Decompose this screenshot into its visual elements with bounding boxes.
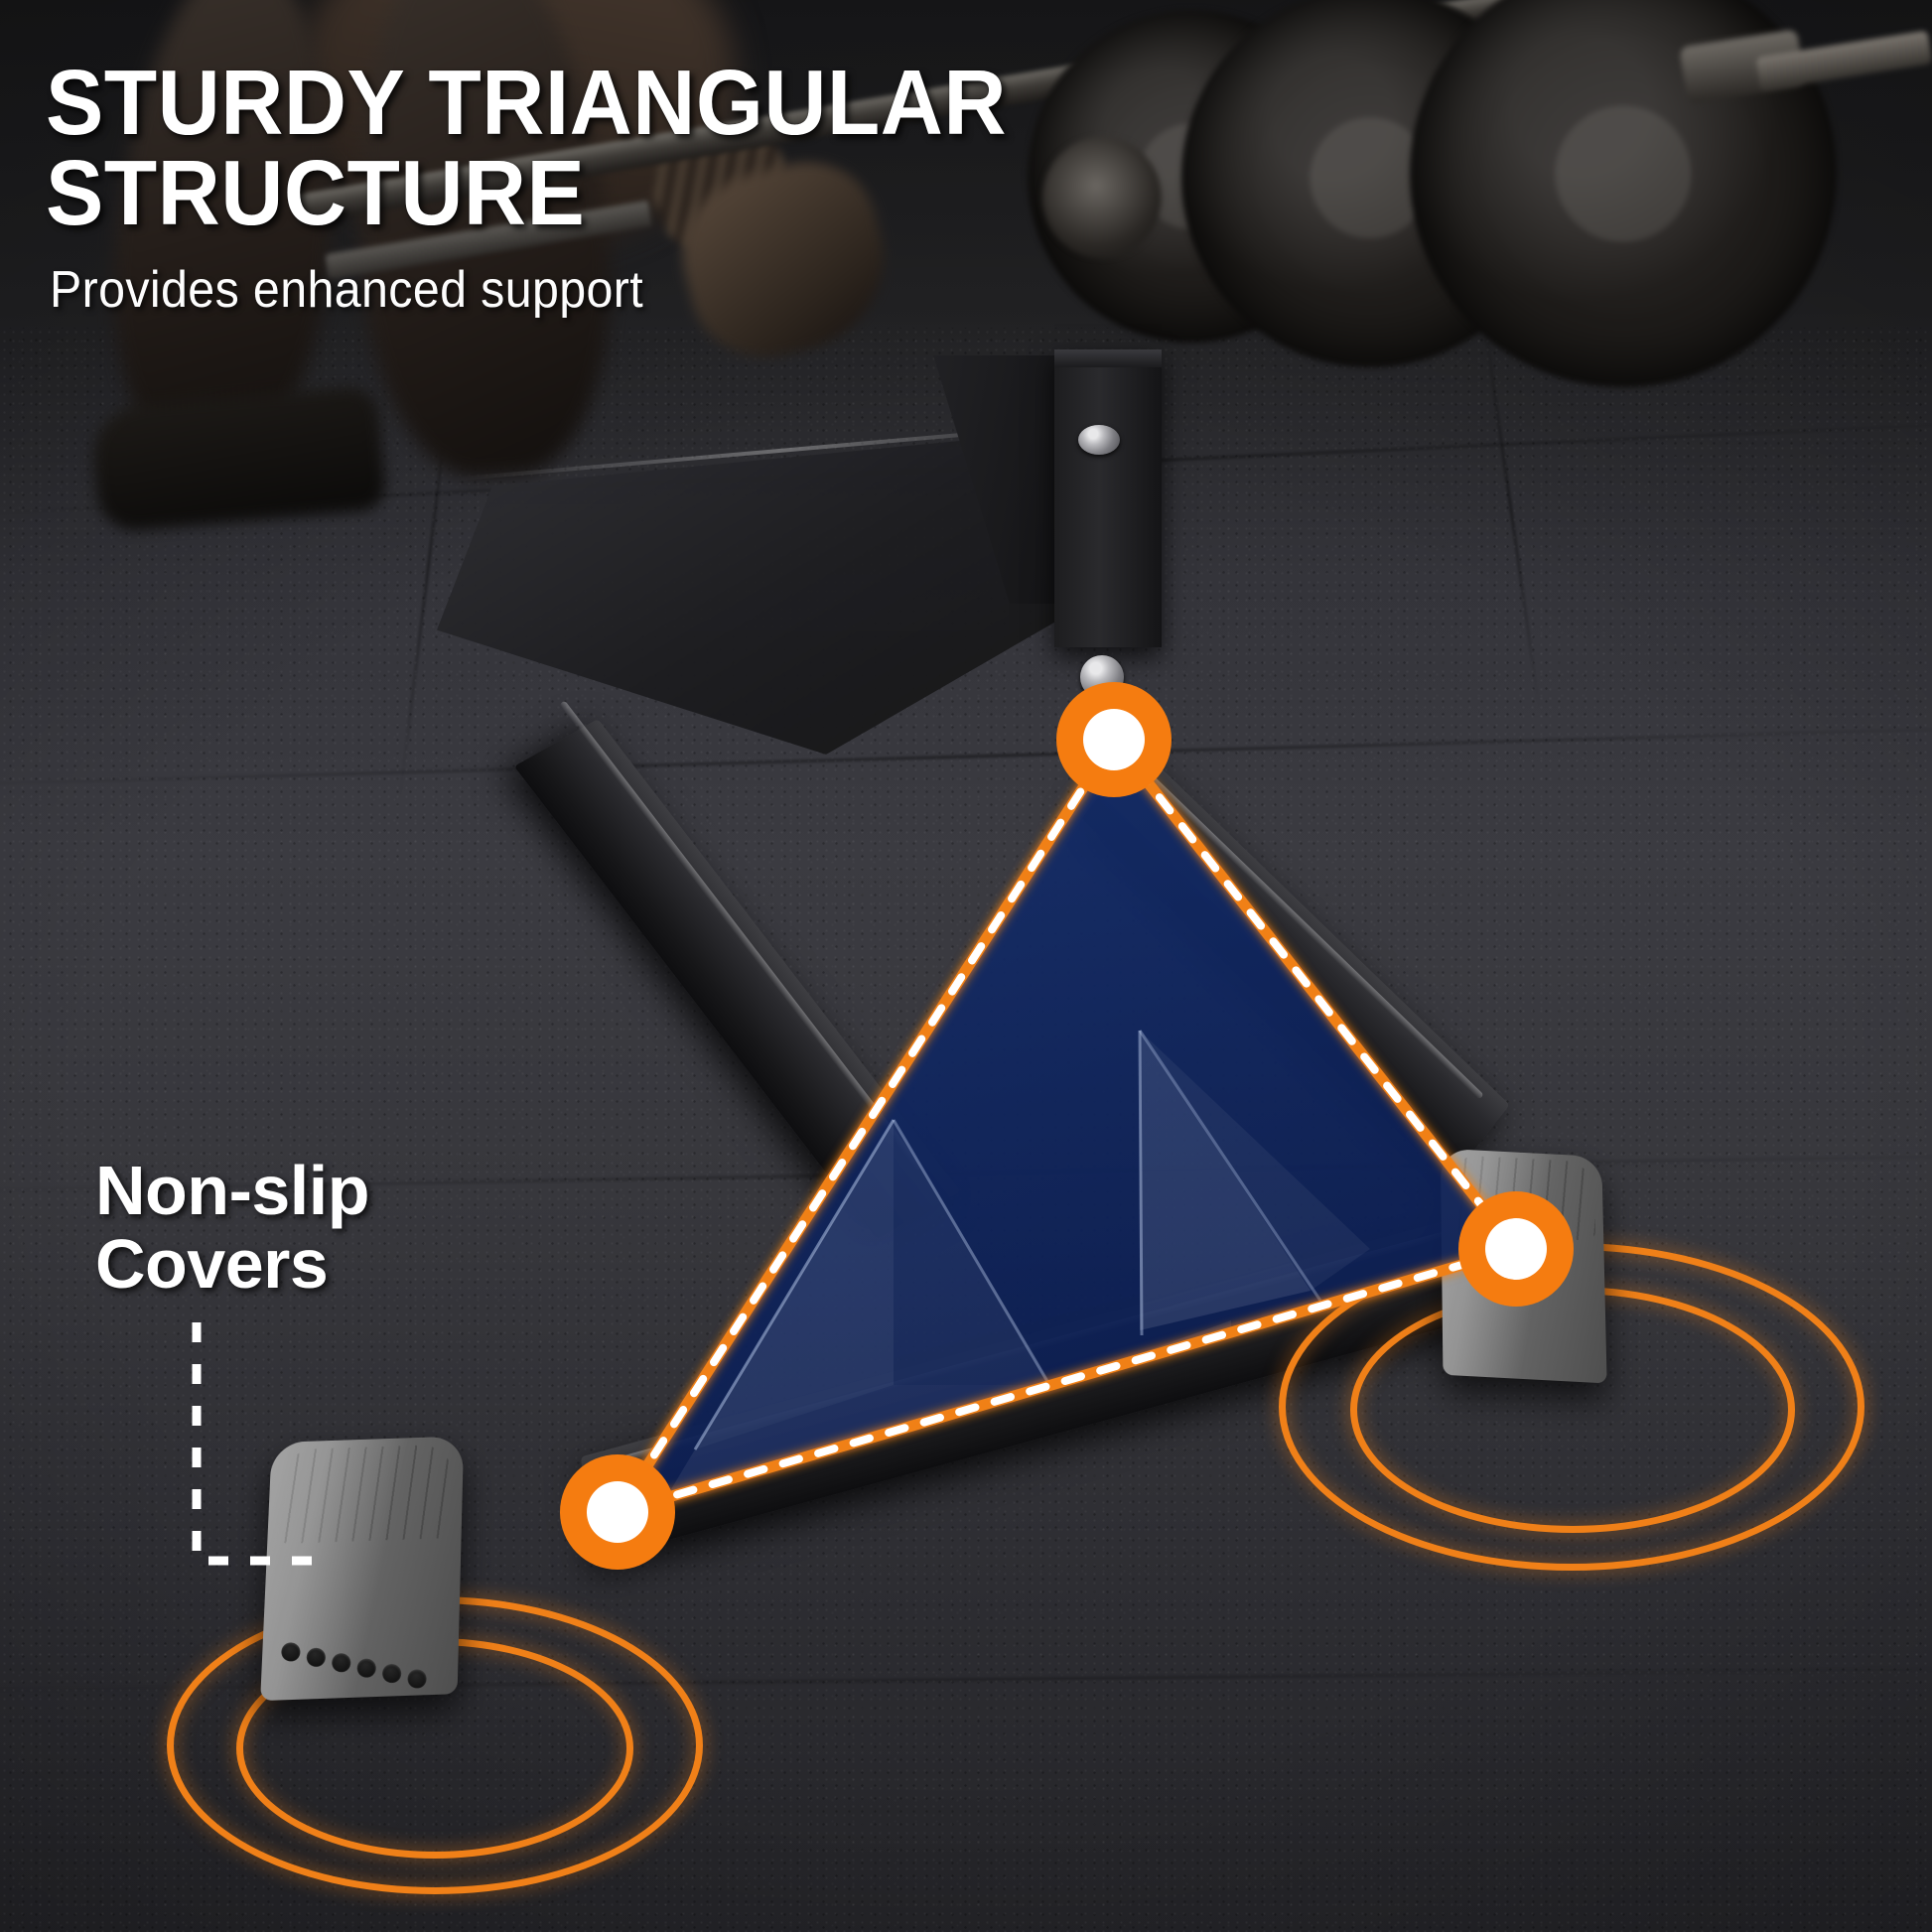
feature-callout-label: Non-slip Covers: [95, 1154, 369, 1301]
product-feature-image: STURDY TRIANGULAR STRUCTURE Provides enh…: [0, 0, 1932, 1932]
page-title: STURDY TRIANGULAR STRUCTURE: [46, 58, 1007, 238]
subtitle: Provides enhanced support: [50, 260, 643, 320]
